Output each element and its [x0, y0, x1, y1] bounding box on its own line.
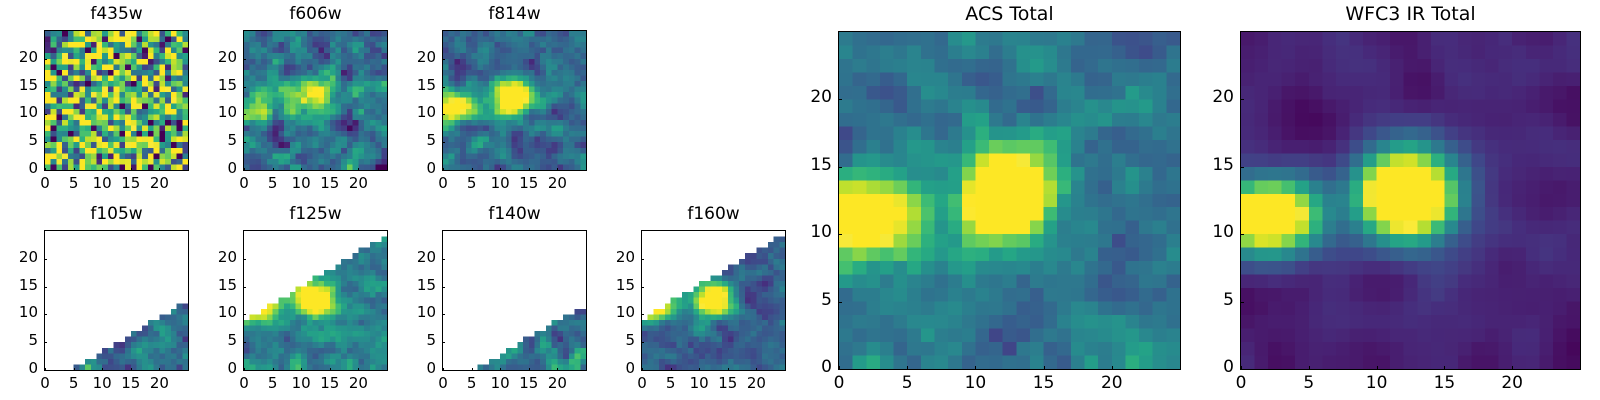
- yticklabel-f140w-15: 15: [376, 278, 436, 293]
- xticklabel-f125w-0: 0: [214, 376, 274, 391]
- xtick-wfc3-ir-total-0: [1241, 366, 1242, 370]
- yticklabel-f125w-10: 10: [177, 305, 237, 320]
- heatmap-image-f160w: [642, 231, 785, 370]
- xtick-f140w-10: [500, 368, 501, 371]
- ytick-f140w-0: [442, 370, 445, 371]
- ytick-f160w-15: [641, 287, 644, 288]
- axes-f160w: [641, 230, 786, 371]
- panel-f125w: f125w0510152005101520: [0, 0, 1600, 400]
- yticklabel-f105w-15: 15: [0, 278, 38, 293]
- ytick-f606w-5: [243, 142, 246, 143]
- xticklabel-wfc3-ir-total-15: 15: [1414, 375, 1474, 392]
- xtick-f435w-10: [102, 168, 103, 171]
- xticklabel-f105w-20: 20: [129, 376, 189, 391]
- xtick-f105w-10: [102, 368, 103, 371]
- xtick-f814w-5: [472, 168, 473, 171]
- xticklabel-f125w-15: 15: [300, 376, 360, 391]
- ytick-wfc3-ir-total-15: [1240, 167, 1244, 168]
- yticklabel-f606w-15: 15: [177, 78, 237, 93]
- ytick-wfc3-ir-total-20: [1240, 99, 1244, 100]
- xticklabel-f140w-20: 20: [527, 376, 587, 391]
- ytick-f140w-15: [442, 287, 445, 288]
- yticklabel-f125w-20: 20: [177, 250, 237, 265]
- xticklabel-f606w-15: 15: [300, 176, 360, 191]
- xtick-f814w-10: [500, 168, 501, 171]
- xticklabel-f814w-0: 0: [413, 176, 473, 191]
- yticklabel-f125w-0: 0: [177, 361, 237, 376]
- panel-acs-total: ACS Total0510152005101520: [0, 0, 1600, 400]
- heatmap-image-acs-total: [839, 32, 1180, 369]
- xticklabel-f140w-15: 15: [499, 376, 559, 391]
- yticklabel-f435w-10: 10: [0, 105, 38, 120]
- xticklabel-f435w-10: 10: [72, 176, 132, 191]
- xticklabel-acs-total-10: 10: [945, 375, 1005, 392]
- ytick-f105w-20: [44, 259, 47, 260]
- xtick-acs-total-10: [975, 366, 976, 370]
- xticklabel-acs-total-0: 0: [809, 375, 869, 392]
- xtick-f125w-0: [244, 368, 245, 371]
- ytick-f140w-10: [442, 314, 445, 315]
- xticklabel-f160w-10: 10: [669, 376, 729, 391]
- ytick-wfc3-ir-total-0: [1240, 369, 1244, 370]
- panel-title-f140w: f140w: [442, 206, 587, 223]
- xtick-f105w-5: [74, 368, 75, 371]
- yticklabel-wfc3-ir-total-10: 10: [1174, 224, 1234, 241]
- panel-f140w: f140w0510152005101520: [0, 0, 1600, 400]
- ytick-acs-total-0: [838, 369, 842, 370]
- yticklabel-acs-total-10: 10: [772, 224, 832, 241]
- yticklabel-acs-total-15: 15: [772, 157, 832, 174]
- yticklabel-wfc3-ir-total-0: 0: [1174, 359, 1234, 376]
- ytick-f105w-10: [44, 314, 47, 315]
- panel-title-f814w: f814w: [442, 6, 587, 23]
- panel-title-f160w: f160w: [641, 206, 786, 223]
- yticklabel-f814w-10: 10: [376, 105, 436, 120]
- ytick-f435w-5: [44, 142, 47, 143]
- panel-f105w: f105w0510152005101520: [0, 0, 1600, 400]
- yticklabel-f606w-20: 20: [177, 50, 237, 65]
- ytick-f105w-5: [44, 342, 47, 343]
- xticklabel-acs-total-20: 20: [1082, 375, 1142, 392]
- yticklabel-f140w-5: 5: [376, 333, 436, 348]
- ytick-f105w-0: [44, 370, 47, 371]
- ytick-f814w-15: [442, 87, 445, 88]
- heatmap-image-f435w: [45, 31, 188, 170]
- yticklabel-f125w-15: 15: [177, 278, 237, 293]
- ytick-f814w-10: [442, 114, 445, 115]
- xtick-f125w-15: [330, 368, 331, 371]
- xtick-f105w-0: [45, 368, 46, 371]
- xticklabel-f606w-10: 10: [271, 176, 331, 191]
- xtick-wfc3-ir-total-20: [1512, 366, 1513, 370]
- panel-f435w: f435w0510152005101520: [0, 0, 1600, 400]
- xticklabel-f140w-0: 0: [413, 376, 473, 391]
- ytick-f140w-5: [442, 342, 445, 343]
- yticklabel-f160w-0: 0: [575, 361, 635, 376]
- xtick-f125w-10: [301, 368, 302, 371]
- axes-f814w: [442, 30, 587, 171]
- xticklabel-f814w-10: 10: [470, 176, 530, 191]
- heatmap-image-f125w: [244, 231, 387, 370]
- xticklabel-f160w-15: 15: [698, 376, 758, 391]
- ytick-f435w-10: [44, 114, 47, 115]
- ytick-f160w-5: [641, 342, 644, 343]
- ytick-f140w-20: [442, 259, 445, 260]
- ytick-acs-total-10: [838, 234, 842, 235]
- xtick-f105w-15: [131, 368, 132, 371]
- ytick-f125w-5: [243, 342, 246, 343]
- ytick-f105w-15: [44, 287, 47, 288]
- yticklabel-f140w-0: 0: [376, 361, 436, 376]
- xticklabel-wfc3-ir-total-5: 5: [1279, 375, 1339, 392]
- xticklabel-acs-total-5: 5: [877, 375, 937, 392]
- yticklabel-f140w-20: 20: [376, 250, 436, 265]
- axes-acs-total: [838, 31, 1181, 370]
- xtick-f606w-10: [301, 168, 302, 171]
- panel-title-f105w: f105w: [44, 206, 189, 223]
- xtick-f435w-20: [159, 168, 160, 171]
- ytick-f606w-15: [243, 87, 246, 88]
- yticklabel-f105w-10: 10: [0, 305, 38, 320]
- xtick-f160w-0: [642, 368, 643, 371]
- yticklabel-f105w-0: 0: [0, 361, 38, 376]
- xtick-acs-total-20: [1112, 366, 1113, 370]
- yticklabel-f160w-10: 10: [575, 305, 635, 320]
- xtick-f140w-5: [472, 368, 473, 371]
- ytick-f125w-0: [243, 370, 246, 371]
- xtick-acs-total-15: [1044, 366, 1045, 370]
- xtick-f814w-0: [443, 168, 444, 171]
- ytick-f160w-10: [641, 314, 644, 315]
- yticklabel-f606w-10: 10: [177, 105, 237, 120]
- axes-f435w: [44, 30, 189, 171]
- yticklabel-f435w-15: 15: [0, 78, 38, 93]
- xticklabel-f160w-0: 0: [612, 376, 672, 391]
- ytick-f814w-20: [442, 59, 445, 60]
- xtick-f606w-15: [330, 168, 331, 171]
- heatmap-image-f814w: [443, 31, 586, 170]
- panel-title-acs-total: ACS Total: [838, 5, 1181, 24]
- axes-f140w: [442, 230, 587, 371]
- ytick-wfc3-ir-total-10: [1240, 234, 1244, 235]
- ytick-acs-total-20: [838, 99, 842, 100]
- xtick-f606w-5: [273, 168, 274, 171]
- xtick-f140w-15: [529, 368, 530, 371]
- ytick-f160w-20: [641, 259, 644, 260]
- yticklabel-f140w-10: 10: [376, 305, 436, 320]
- yticklabel-wfc3-ir-total-20: 20: [1174, 89, 1234, 106]
- yticklabel-wfc3-ir-total-15: 15: [1174, 157, 1234, 174]
- yticklabel-acs-total-0: 0: [772, 359, 832, 376]
- xtick-f125w-5: [273, 368, 274, 371]
- yticklabel-acs-total-5: 5: [772, 292, 832, 309]
- axes-f105w: [44, 230, 189, 371]
- xticklabel-f435w-5: 5: [44, 176, 104, 191]
- xticklabel-f105w-15: 15: [101, 376, 161, 391]
- xticklabel-wfc3-ir-total-10: 10: [1347, 375, 1407, 392]
- xticklabel-wfc3-ir-total-20: 20: [1482, 375, 1542, 392]
- yticklabel-f105w-20: 20: [0, 250, 38, 265]
- ytick-f125w-15: [243, 287, 246, 288]
- yticklabel-f125w-5: 5: [177, 333, 237, 348]
- axes-wfc3-ir-total: [1240, 31, 1581, 370]
- heatmap-image-f140w: [443, 231, 586, 370]
- xtick-wfc3-ir-total-10: [1377, 366, 1378, 370]
- xtick-f105w-20: [159, 368, 160, 371]
- panel-title-f606w: f606w: [243, 6, 388, 23]
- xtick-f606w-20: [358, 168, 359, 171]
- ytick-f125w-10: [243, 314, 246, 315]
- xtick-f814w-15: [529, 168, 530, 171]
- ytick-f435w-0: [44, 170, 47, 171]
- xticklabel-f606w-5: 5: [243, 176, 303, 191]
- panel-title-wfc3-ir-total: WFC3 IR Total: [1240, 5, 1581, 24]
- xticklabel-f105w-0: 0: [15, 376, 75, 391]
- yticklabel-f606w-0: 0: [177, 161, 237, 176]
- xtick-f435w-0: [45, 168, 46, 171]
- heatmap-image-wfc3-ir-total: [1241, 32, 1580, 369]
- xticklabel-wfc3-ir-total-0: 0: [1211, 375, 1271, 392]
- xtick-f435w-5: [74, 168, 75, 171]
- xtick-acs-total-0: [839, 366, 840, 370]
- ytick-wfc3-ir-total-5: [1240, 302, 1244, 303]
- xticklabel-f606w-0: 0: [214, 176, 274, 191]
- panel-wfc3-ir-total: WFC3 IR Total0510152005101520: [0, 0, 1600, 400]
- xtick-f160w-10: [699, 368, 700, 371]
- xtick-f160w-5: [671, 368, 672, 371]
- xticklabel-f160w-20: 20: [726, 376, 786, 391]
- yticklabel-f160w-20: 20: [575, 250, 635, 265]
- yticklabel-wfc3-ir-total-5: 5: [1174, 292, 1234, 309]
- ytick-acs-total-5: [838, 302, 842, 303]
- yticklabel-f435w-20: 20: [0, 50, 38, 65]
- yticklabel-f606w-5: 5: [177, 133, 237, 148]
- yticklabel-f160w-5: 5: [575, 333, 635, 348]
- xtick-f606w-0: [244, 168, 245, 171]
- yticklabel-f105w-5: 5: [0, 333, 38, 348]
- ytick-f435w-15: [44, 87, 47, 88]
- figure-canvas: f435w0510152005101520f606w05101520051015…: [0, 0, 1600, 400]
- xticklabel-f814w-15: 15: [499, 176, 559, 191]
- xticklabel-f606w-20: 20: [328, 176, 388, 191]
- yticklabel-f814w-15: 15: [376, 78, 436, 93]
- xtick-f814w-20: [557, 168, 558, 171]
- xticklabel-f125w-10: 10: [271, 376, 331, 391]
- ytick-acs-total-15: [838, 167, 842, 168]
- xticklabel-f125w-5: 5: [243, 376, 303, 391]
- heatmap-image-f606w: [244, 31, 387, 170]
- ytick-f160w-0: [641, 370, 644, 371]
- yticklabel-f435w-0: 0: [0, 161, 38, 176]
- panel-title-f125w: f125w: [243, 206, 388, 223]
- xtick-f435w-15: [131, 168, 132, 171]
- ytick-f125w-20: [243, 259, 246, 260]
- yticklabel-f435w-5: 5: [0, 133, 38, 148]
- xticklabel-f435w-0: 0: [15, 176, 75, 191]
- heatmap-image-f105w: [45, 231, 188, 370]
- yticklabel-f814w-0: 0: [376, 161, 436, 176]
- xtick-acs-total-5: [907, 366, 908, 370]
- xtick-f125w-20: [358, 368, 359, 371]
- xticklabel-f125w-20: 20: [328, 376, 388, 391]
- xticklabel-f140w-10: 10: [470, 376, 530, 391]
- panel-f606w: f606w0510152005101520: [0, 0, 1600, 400]
- xticklabel-f160w-5: 5: [641, 376, 701, 391]
- xticklabel-f140w-5: 5: [442, 376, 502, 391]
- xtick-wfc3-ir-total-15: [1444, 366, 1445, 370]
- axes-f606w: [243, 30, 388, 171]
- panel-title-f435w: f435w: [44, 6, 189, 23]
- yticklabel-acs-total-20: 20: [772, 89, 832, 106]
- ytick-f814w-5: [442, 142, 445, 143]
- xticklabel-f105w-5: 5: [44, 376, 104, 391]
- xticklabel-f814w-20: 20: [527, 176, 587, 191]
- xticklabel-acs-total-15: 15: [1014, 375, 1074, 392]
- ytick-f435w-20: [44, 59, 47, 60]
- xticklabel-f105w-10: 10: [72, 376, 132, 391]
- yticklabel-f814w-5: 5: [376, 133, 436, 148]
- ytick-f606w-0: [243, 170, 246, 171]
- xtick-f160w-20: [756, 368, 757, 371]
- xticklabel-f435w-15: 15: [101, 176, 161, 191]
- ytick-f606w-20: [243, 59, 246, 60]
- panel-f160w: f160w0510152005101520: [0, 0, 1600, 400]
- xticklabel-f435w-20: 20: [129, 176, 189, 191]
- panel-f814w: f814w0510152005101520: [0, 0, 1600, 400]
- yticklabel-f160w-15: 15: [575, 278, 635, 293]
- yticklabel-f814w-20: 20: [376, 50, 436, 65]
- xtick-f140w-20: [557, 368, 558, 371]
- xtick-f160w-15: [728, 368, 729, 371]
- xtick-wfc3-ir-total-5: [1309, 366, 1310, 370]
- ytick-f606w-10: [243, 114, 246, 115]
- ytick-f814w-0: [442, 170, 445, 171]
- xticklabel-f814w-5: 5: [442, 176, 502, 191]
- axes-f125w: [243, 230, 388, 371]
- xtick-f140w-0: [443, 368, 444, 371]
